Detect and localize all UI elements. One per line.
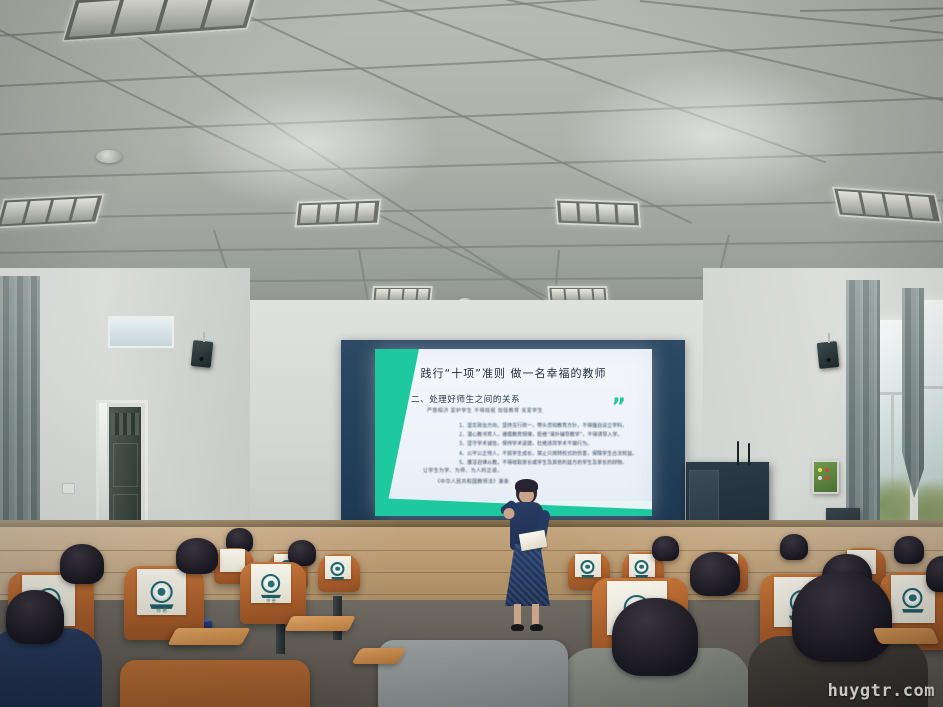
audience-member	[690, 552, 740, 596]
antenna	[748, 443, 750, 465]
emblem-caption: 师 德	[259, 599, 283, 603]
headrest-cover: 师 德	[137, 569, 187, 615]
audience-member	[612, 598, 698, 676]
seat	[318, 554, 360, 592]
audience-member	[652, 536, 679, 561]
armrest	[351, 648, 406, 664]
slide-lead-line: 严慈相济 爱护学生 不得歧视 加强教育 关爱学生	[427, 407, 543, 414]
recessed-grid-light	[555, 199, 641, 228]
school-emblem-icon	[330, 562, 345, 580]
school-emblem-icon	[580, 560, 595, 578]
slide-bullet: 2、潜心教书育人，遵循教育规律，拒绝“课外辅导教学”，不得诱导入学。	[459, 431, 639, 440]
school-emblem-icon: 师 德	[259, 574, 283, 603]
audience-member	[792, 572, 892, 662]
headrest-cover: 师 德	[251, 564, 292, 602]
door-grille	[111, 413, 139, 435]
audience-member	[894, 536, 924, 564]
slide-bullet: 4、公平公正待人，不搞学生成长，禁止只用特权式的伤害，保障学生合法权益。	[459, 450, 639, 459]
headrest-cover	[575, 554, 601, 578]
slide-bullet: 1、坚定政治方向，坚持言行统一，带头贯彻教育方针，不得擅自设立学科。	[459, 422, 639, 431]
quotation-mark-icon: ”	[612, 401, 626, 415]
wall-speaker	[191, 340, 214, 368]
headrest-cover	[325, 556, 351, 580]
seat: 师 德	[240, 562, 306, 624]
raised-hand	[499, 499, 518, 517]
slide-title: 践行“十项”准则 做一名幸福的教师	[375, 365, 652, 381]
slide-bullet-list: 1、坚定政治方向，坚持言行统一，带头贯彻教育方针，不得擅自设立学科。 2、潜心教…	[419, 422, 639, 468]
headrest-cover	[629, 554, 655, 578]
audience-member	[6, 590, 64, 644]
dome-light	[96, 150, 122, 163]
light-switch-plate[interactable]	[62, 483, 75, 494]
slide-section-heading: 二、处理好师生之间的关系	[411, 393, 520, 405]
tablet-arm[interactable]	[167, 628, 250, 645]
antenna	[737, 441, 739, 465]
slide-closing-line: 让学生为学、为师、为人的正道。	[423, 467, 503, 474]
held-papers	[519, 530, 548, 551]
recessed-grid-light	[0, 193, 105, 228]
audience-member	[780, 534, 808, 560]
school-emblem-icon: 师 德	[147, 581, 176, 615]
wall-speaker	[817, 341, 840, 369]
tablet-arm[interactable]	[284, 616, 355, 631]
audience-member	[60, 544, 104, 584]
transom-window	[108, 316, 174, 348]
seat	[120, 660, 310, 707]
slide-bullet: 3、坚守学术诚信，保持学术道德，杜绝违背学术不端行为。	[459, 440, 639, 449]
seat	[378, 640, 568, 707]
lecture-hall-photograph: 践行“十项”准则 做一名幸福的教师 二、处理好师生之间的关系 严慈相济 爱护学生…	[0, 0, 943, 707]
emergency-control-box[interactable]	[812, 460, 839, 494]
armrest	[872, 628, 939, 644]
curtain-right-inner	[846, 280, 880, 542]
school-emblem-icon	[900, 588, 925, 613]
recessed-grid-light	[294, 199, 381, 228]
audience-member	[176, 538, 218, 574]
watermark: huygtr.com	[828, 681, 935, 701]
teacher-presenter	[492, 480, 564, 640]
emblem-caption: 师 德	[147, 610, 176, 615]
school-emblem-icon	[634, 560, 649, 578]
